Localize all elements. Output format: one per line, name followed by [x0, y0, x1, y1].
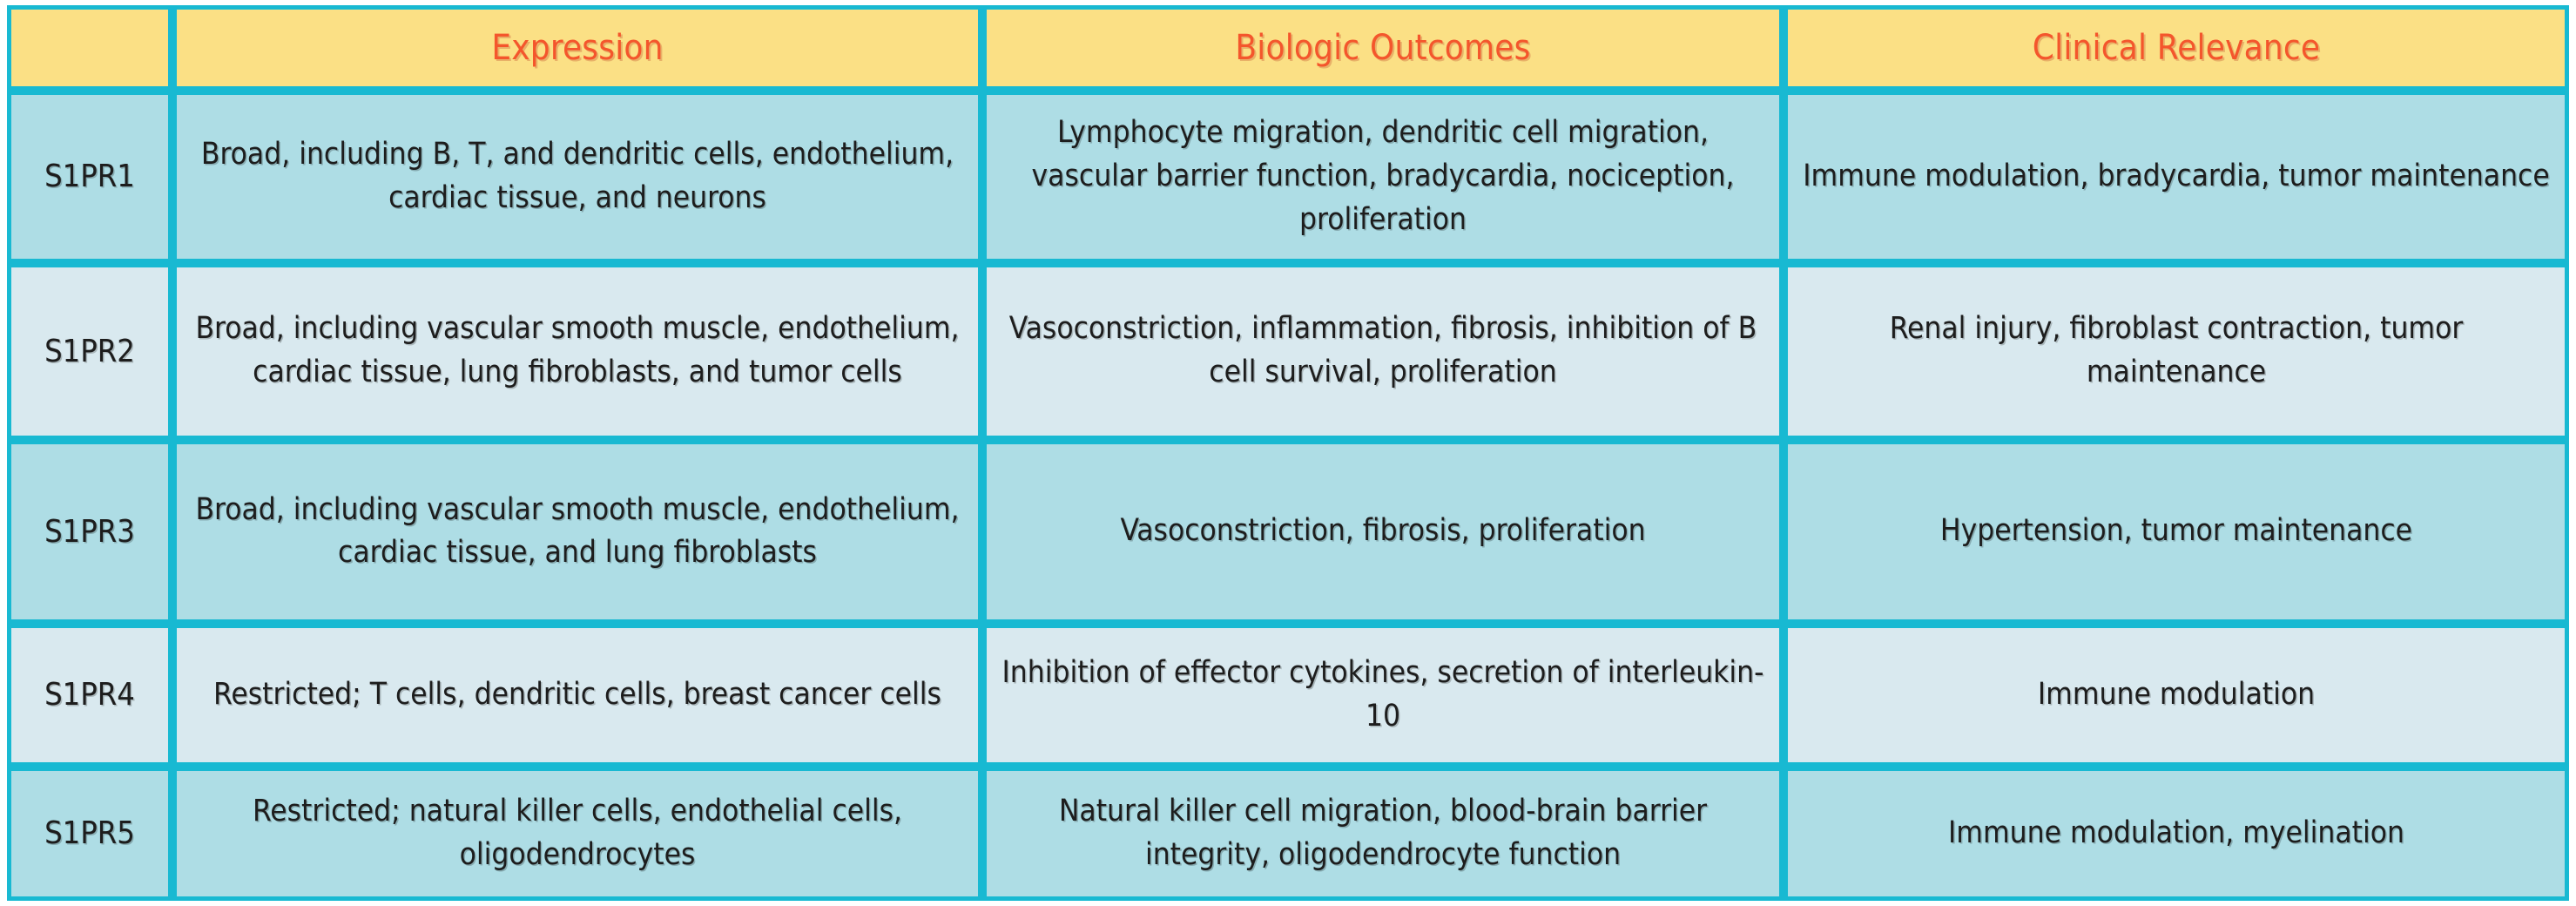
cell-clinical-relevance: Hypertension, tumor maintenance	[1784, 440, 2569, 624]
cell-clinical-relevance: Renal injury, fibroblast contraction, tu…	[1784, 263, 2569, 440]
table-row: S1PR5 Restricted; natural killer cells, …	[7, 767, 2569, 901]
cell-biologic-outcomes: Vasoconstriction, fibrosis, proliferatio…	[982, 440, 1784, 624]
cell-biologic-outcomes: Natural killer cell migration, blood-bra…	[982, 767, 1784, 901]
column-header-expression: Expression	[172, 5, 982, 91]
table-row: S1PR3 Broad, including vascular smooth m…	[7, 440, 2569, 624]
receptor-name: S1PR2	[7, 263, 172, 440]
cell-expression: Broad, including vascular smooth muscle,…	[172, 440, 982, 624]
cell-clinical-relevance: Immune modulation, myelination	[1784, 767, 2569, 901]
cell-expression: Restricted; T cells, dendritic cells, br…	[172, 624, 982, 767]
table-row: S1PR4 Restricted; T cells, dendritic cel…	[7, 624, 2569, 767]
cell-clinical-relevance: Immune modulation, bradycardia, tumor ma…	[1784, 91, 2569, 263]
column-header-biologic-outcomes: Biologic Outcomes	[982, 5, 1784, 91]
header-corner-blank	[7, 5, 172, 91]
cell-biologic-outcomes: Inhibition of effector cytokines, secret…	[982, 624, 1784, 767]
receptor-name: S1PR1	[7, 91, 172, 263]
table-row: S1PR2 Broad, including vascular smooth m…	[7, 263, 2569, 440]
table-header: Expression Biologic Outcomes Clinical Re…	[7, 5, 2569, 91]
column-header-clinical-relevance: Clinical Relevance	[1784, 5, 2569, 91]
cell-biologic-outcomes: Vasoconstriction, inflammation, fibrosis…	[982, 263, 1784, 440]
s1p-receptor-table: Expression Biologic Outcomes Clinical Re…	[7, 5, 2569, 901]
receptor-name: S1PR3	[7, 440, 172, 624]
cell-expression: Restricted; natural killer cells, endoth…	[172, 767, 982, 901]
cell-biologic-outcomes: Lymphocyte migration, dendritic cell mig…	[982, 91, 1784, 263]
table-row: S1PR1 Broad, including B, T, and dendrit…	[7, 91, 2569, 263]
table-body: S1PR1 Broad, including B, T, and dendrit…	[7, 91, 2569, 901]
receptor-name: S1PR5	[7, 767, 172, 901]
cell-expression: Broad, including B, T, and dendritic cel…	[172, 91, 982, 263]
table-container: Expression Biologic Outcomes Clinical Re…	[7, 5, 2569, 901]
receptor-name: S1PR4	[7, 624, 172, 767]
cell-clinical-relevance: Immune modulation	[1784, 624, 2569, 767]
header-row: Expression Biologic Outcomes Clinical Re…	[7, 5, 2569, 91]
cell-expression: Broad, including vascular smooth muscle,…	[172, 263, 982, 440]
